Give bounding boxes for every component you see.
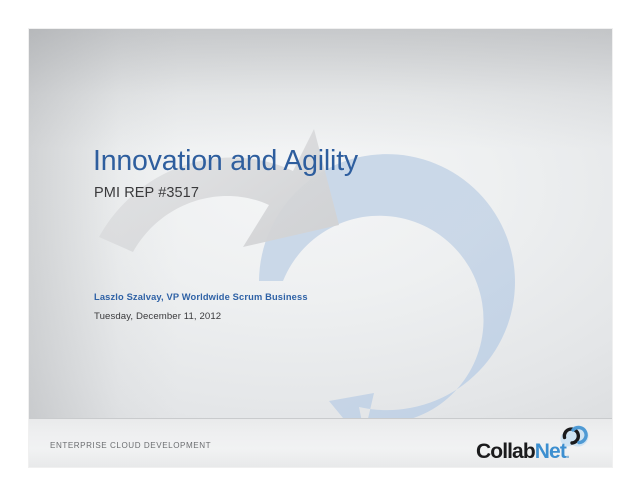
presentation-date: Tuesday, December 11, 2012: [94, 311, 474, 322]
presenter-name: Laszlo Szalvay, VP Worldwide Scrum Busin…: [94, 292, 474, 302]
slide-footer: ENTERPRISE CLOUD DEVELOPMENT CollabNet.: [29, 418, 612, 467]
page-subtitle: PMI REP #3517: [94, 185, 513, 201]
page-title: Innovation and Agility: [93, 146, 513, 178]
decorative-swoosh-group: [29, 29, 612, 467]
title-block: Innovation and Agility PMI REP #3517: [93, 146, 513, 201]
logo-trademark: .: [566, 445, 569, 462]
logo-wordmark: CollabNet.: [476, 441, 569, 462]
swoosh-svg: [29, 29, 612, 467]
logo-word-collab: Collab: [476, 440, 535, 463]
collabnet-logo: CollabNet.: [476, 423, 594, 465]
presentation-page: Innovation and Agility PMI REP #3517 Las…: [0, 0, 640, 495]
logo-word-net: Net: [535, 440, 566, 463]
footer-tagline: ENTERPRISE CLOUD DEVELOPMENT: [50, 441, 211, 450]
presenter-block: Laszlo Szalvay, VP Worldwide Scrum Busin…: [94, 292, 474, 322]
title-slide: Innovation and Agility PMI REP #3517 Las…: [29, 29, 612, 467]
